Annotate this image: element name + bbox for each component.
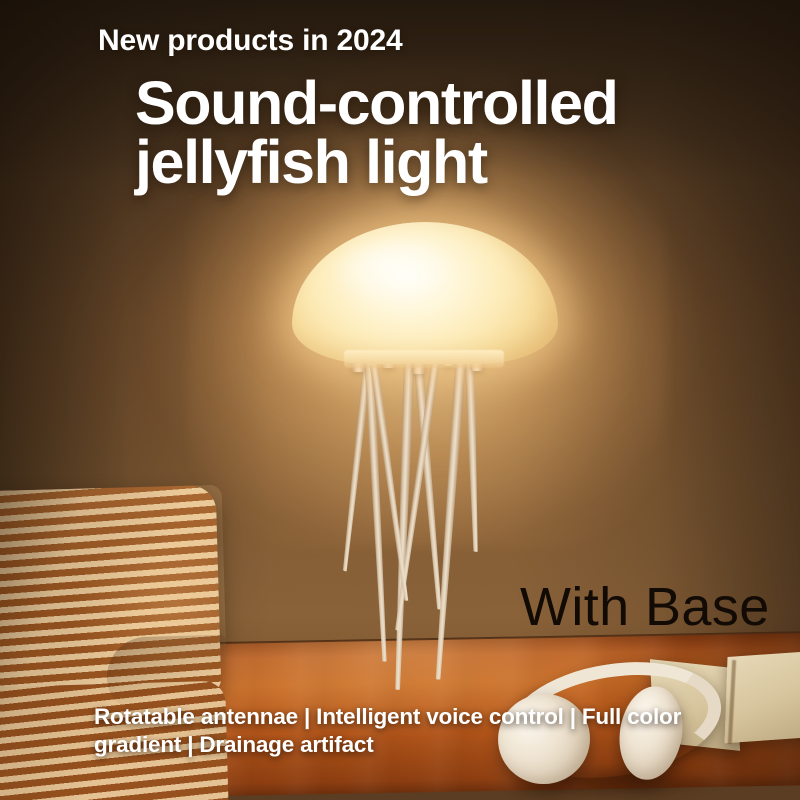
headline-line-1: Sound-controlled: [135, 74, 618, 133]
product-ad-banner: New products in 2024 Sound-controlled je…: [0, 0, 800, 800]
lamp-dome-rim: [344, 350, 504, 368]
headline: Sound-controlled jellyfish light: [135, 74, 618, 192]
with-base-label: With Base: [520, 576, 770, 638]
lamp-dome-highlight: [336, 242, 462, 304]
headline-line-2: jellyfish light: [135, 133, 618, 192]
feature-list-text: Rotatable antennae | Intelligent voice c…: [94, 703, 744, 759]
eyebrow-text: New products in 2024: [98, 24, 402, 58]
